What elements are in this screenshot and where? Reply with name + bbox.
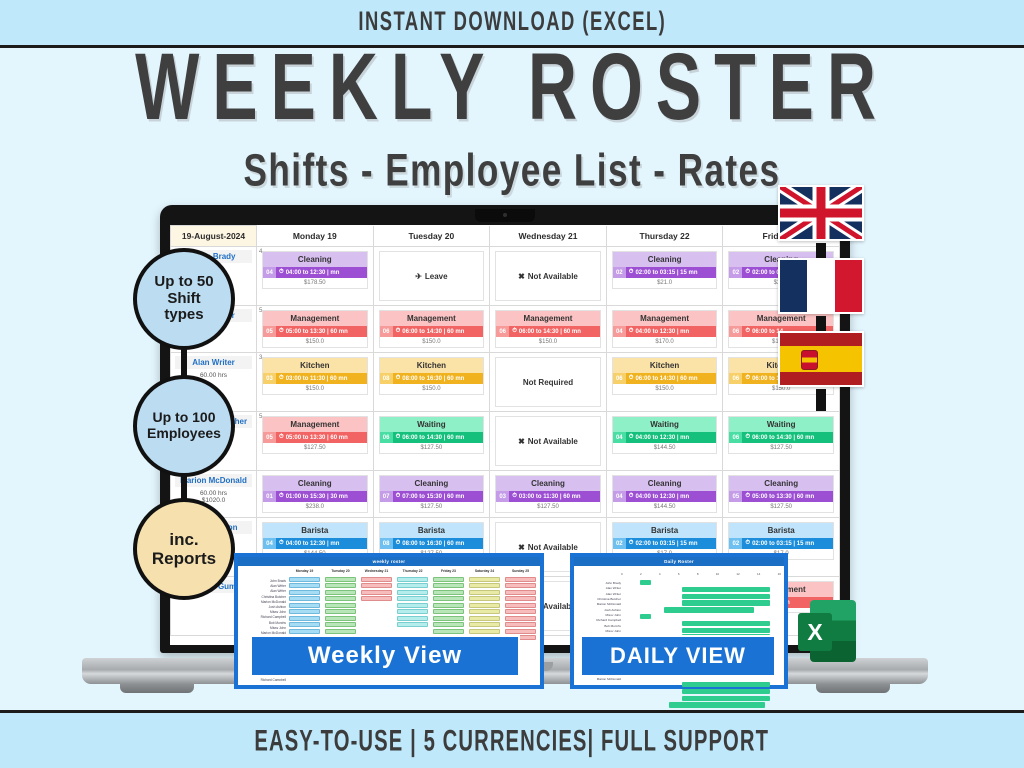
daily-window-title: Daily Roster [574, 557, 784, 566]
gantt-bar [682, 587, 770, 592]
shift-role: Barista [263, 523, 367, 538]
shift-card[interactable]: Kitchen08⏱08:00 to 16:30 | 60 mn$150.0 [379, 357, 485, 395]
gantt-bar [682, 621, 770, 626]
gantt-row [621, 587, 781, 594]
shift-number: 06 [496, 326, 509, 337]
shift-number: 02 [729, 538, 742, 549]
shift-number: 06 [729, 326, 742, 337]
shift-number: 05 [263, 326, 276, 337]
laptop-foot-right [816, 684, 890, 693]
flag-pole-3 [816, 389, 826, 411]
clock-icon: ⏱ [629, 375, 634, 382]
shift-amount: $150.0 [263, 384, 367, 394]
weekly-day-3: Thursday 22 [403, 569, 423, 573]
shift-amount: $150.0 [380, 337, 484, 347]
row-index: 3 [259, 355, 262, 361]
clock-icon: ⏱ [279, 269, 284, 276]
shift-time: ⏱04:00 to 12:30 | mn [626, 326, 717, 337]
shift-amount: $127.50 [380, 443, 484, 453]
shift-number: 01 [263, 491, 276, 502]
list-item: Bob Murphy [577, 623, 621, 628]
gantt-row [621, 600, 781, 607]
axis-tick: 16 [778, 572, 781, 576]
gantt-row [621, 689, 781, 696]
shift-role: Cleaning [613, 252, 717, 267]
shift-number: 06 [729, 373, 742, 384]
shift-cell[interactable]: Cleaning04⏱04:00 to 12:30 | mn$144.50 [606, 471, 723, 518]
shift-cell[interactable]: Cleaning01⏱01:00 to 15:30 | 30 mn$238.0 [257, 471, 374, 518]
gantt-bar [640, 580, 651, 585]
gantt-bar [682, 628, 770, 633]
shift-role: Cleaning [263, 252, 367, 267]
shift-role: Waiting [729, 417, 833, 432]
shift-number: 05 [729, 491, 742, 502]
date-header-cell: 19-August-2024 [171, 226, 257, 247]
axis-tick: 0 [621, 572, 623, 576]
list-item: Christina Butcher [577, 596, 621, 601]
gantt-row [621, 682, 781, 689]
axis-tick: 12 [736, 572, 739, 576]
shift-number: 06 [613, 373, 626, 384]
list-item: Bob Murphy [240, 620, 286, 624]
list-item: Alan Writer [577, 591, 621, 596]
list-item: John Brady [577, 580, 621, 585]
list-item: Christina Butcher [240, 594, 286, 598]
clock-icon: ⏱ [396, 434, 401, 441]
status-cell: Not Required [495, 357, 601, 407]
shift-amount: $170.0 [613, 337, 717, 347]
daily-view-label: DAILY VIEW [580, 635, 776, 677]
clock-icon: ⏱ [629, 540, 634, 547]
shift-amount: $21.0 [613, 278, 717, 288]
shift-card[interactable]: Cleaning05⏱05:00 to 13:30 | 60 mn$127.50 [728, 475, 834, 513]
bottom-banner-text: EASY-TO-USE | 5 CURRENCIES| FULL SUPPORT [255, 723, 770, 758]
gantt-bar [664, 607, 754, 612]
shift-number: 02 [613, 538, 626, 549]
list-item: John Brady [240, 578, 286, 582]
shift-cell[interactable]: 5Management05⏱05:00 to 13:30 | 60 mn$127… [257, 412, 374, 471]
shift-amount: $150.0 [496, 337, 600, 347]
shift-time: ⏱06:00 to 14:30 | 60 mn [509, 326, 600, 337]
shift-number: 03 [496, 491, 509, 502]
clock-icon: ⏱ [745, 434, 750, 441]
badge-3-line-1: inc. [169, 530, 198, 549]
shift-amount: $127.50 [729, 502, 833, 512]
shift-role: Barista [380, 523, 484, 538]
webcam-icon [475, 209, 535, 222]
shift-time: ⏱06:00 to 14:30 | 60 mn [742, 432, 833, 443]
table-row: Alan Writer60.00 hrs3Kitchen03⏱03:00 to … [171, 353, 840, 412]
badge-3-line-2: Reports [152, 549, 216, 568]
list-item: Marion McDonald [240, 599, 286, 603]
list-item: Marion McDonald [577, 601, 621, 606]
shift-number: 04 [263, 538, 276, 549]
shift-amount: $127.50 [496, 502, 600, 512]
row-index: 5 [259, 414, 262, 420]
shift-time: ⏱07:00 to 15:30 | 60 mn [393, 491, 484, 502]
shift-card[interactable]: Management06⏱06:00 to 14:30 | 60 mn$150.… [379, 310, 485, 348]
shift-card[interactable]: Kitchen03⏱03:00 to 11:30 | 60 mn$150.0 [262, 357, 368, 395]
shift-time: ⏱04:00 to 12:30 | mn [626, 432, 717, 443]
clock-icon: ⏱ [512, 328, 517, 335]
clock-icon: ⏱ [279, 434, 284, 441]
shift-amount: $144.50 [613, 443, 717, 453]
clock-icon: ⏱ [396, 493, 401, 500]
shift-card[interactable]: Kitchen06⏱06:00 to 14:30 | 60 mn$150.0 [612, 357, 718, 395]
shift-number: 07 [380, 491, 393, 502]
shift-card[interactable]: Waiting06⏱06:00 to 14:30 | 60 mn$127.50 [379, 416, 485, 454]
badge-1-line-1: Up to 50 [154, 274, 213, 291]
shift-card[interactable]: Cleaning01⏱01:00 to 15:30 | 30 mn$238.0 [262, 475, 368, 513]
clock-icon: ⏱ [279, 540, 284, 547]
axis-tick: 6 [678, 572, 680, 576]
shift-role: Management [613, 311, 717, 326]
list-item: Richard Campbell [240, 677, 286, 681]
shift-time: ⏱06:00 to 14:30 | 60 mn [393, 432, 484, 443]
bottom-banner: EASY-TO-USE | 5 CURRENCIES| FULL SUPPORT [0, 710, 1024, 768]
shift-time: ⏱02:00 to 03:15 | 15 mn [626, 538, 717, 549]
axis-tick: 10 [716, 572, 719, 576]
shift-card[interactable]: Management05⏱05:00 to 13:30 | 60 mn$127.… [262, 416, 368, 454]
shift-time: ⏱01:00 to 15:30 | 30 mn [276, 491, 367, 502]
shift-number: 08 [380, 373, 393, 384]
weekly-day-6: Sunday 25 [512, 569, 529, 573]
shift-card[interactable]: Cleaning02⏱02:00 to 03:15 | 15 mn$21.0 [612, 251, 718, 289]
clock-icon: ⏱ [629, 434, 634, 441]
shift-role: Management [263, 311, 367, 326]
shift-card[interactable]: Cleaning04⏱04:00 to 12:30 | mn$178.50 [262, 251, 368, 289]
weekly-day-2: Wednesday 21 [365, 569, 389, 573]
shift-time: ⏱08:00 to 16:30 | 60 mn [393, 373, 484, 384]
shift-cell[interactable]: Cleaning07⏱07:00 to 15:30 | 60 mn$127.50 [373, 471, 490, 518]
shift-role: Kitchen [613, 358, 717, 373]
list-item: Missy John [240, 609, 286, 613]
cross-icon: ✖ [518, 437, 525, 446]
table-row: Christina Butcher5Management05⏱05:00 to … [171, 412, 840, 471]
shift-role: Kitchen [380, 358, 484, 373]
shift-amount: $238.0 [263, 502, 367, 512]
shift-time: ⏱08:00 to 16:30 | 60 mn [393, 538, 484, 549]
clock-icon: ⏱ [745, 540, 750, 547]
clock-icon: ⏱ [279, 493, 284, 500]
clock-icon: ⏱ [279, 375, 284, 382]
shift-number: 04 [613, 326, 626, 337]
shift-card[interactable]: Waiting06⏱06:00 to 14:30 | 60 mn$127.50 [728, 416, 834, 454]
badge-2-line-2: Employees [147, 426, 221, 442]
weekly-day-5: Saturday 24 [475, 569, 494, 573]
status-label: Leave [425, 272, 448, 281]
badge-reports: inc. Reports [133, 498, 235, 600]
shift-cell[interactable]: Kitchen06⏱06:00 to 14:30 | 60 mn$150.0 [606, 353, 723, 412]
page-title: WEEKLY ROSTER [41, 42, 983, 132]
status-cell: ✈Leave [379, 251, 485, 301]
shift-amount: $127.50 [380, 502, 484, 512]
headline-block: WEEKLY ROSTER Shifts - Employee List - R… [0, 52, 1024, 192]
cross-icon: ✖ [518, 272, 525, 281]
excel-icon: X [798, 600, 856, 666]
list-item: Alan Writer [240, 583, 286, 587]
shift-amount: $150.0 [613, 384, 717, 394]
shift-time: ⏱02:00 to 03:15 | 15 mn [742, 538, 833, 549]
shift-number: 04 [263, 267, 276, 278]
clock-icon: ⏱ [629, 269, 634, 276]
badge-1-line-2: Shift [167, 291, 200, 308]
shift-card[interactable]: Management05⏱05:00 to 13:30 | 60 mn$150.… [262, 310, 368, 348]
list-item: Josh Ashton [577, 607, 621, 612]
axis-tick: 8 [697, 572, 699, 576]
list-item: Missy John [240, 625, 286, 629]
shift-role: Cleaning [613, 476, 717, 491]
gantt-bar [682, 600, 770, 605]
gantt-bar [682, 696, 770, 701]
status-label: Not Available [528, 272, 578, 281]
spain-flag-icon [778, 331, 864, 387]
axis-tick: 14 [757, 572, 760, 576]
clock-icon: ⏱ [396, 540, 401, 547]
poster-canvas: INSTANT DOWNLOAD (EXCEL) WEEKLY ROSTER S… [0, 0, 1024, 768]
shift-cell[interactable]: 3Kitchen03⏱03:00 to 11:30 | 60 mn$150.0 [257, 353, 374, 412]
table-row: Marion McDonald60.00 hrs$1020.0Cleaning0… [171, 471, 840, 518]
gantt-row [621, 580, 781, 587]
shift-role: Management [263, 417, 367, 432]
daily-axis-ticks: 0246810121416 [621, 572, 781, 576]
axis-tick: 4 [659, 572, 661, 576]
list-item: Marion McDonald [240, 630, 286, 634]
clock-icon: ⏱ [512, 493, 517, 500]
shift-cell[interactable]: Management06⏱06:00 to 14:30 | 60 mn$150.… [490, 306, 607, 353]
gantt-bar [640, 614, 651, 619]
shift-role: Cleaning [729, 476, 833, 491]
shift-role: Waiting [380, 417, 484, 432]
list-item: Alan Writer [240, 588, 286, 592]
shift-card[interactable]: Management06⏱06:00 to 14:30 | 60 mn$150.… [495, 310, 601, 348]
shift-amount: $150.0 [263, 337, 367, 347]
shift-number: 08 [380, 538, 393, 549]
france-flag-icon [778, 258, 864, 314]
shift-time: ⏱05:00 to 13:30 | 60 mn [276, 326, 367, 337]
shift-cell[interactable]: Waiting06⏱06:00 to 14:30 | 60 mn$127.50 [723, 412, 840, 471]
shift-cell[interactable]: Management06⏱06:00 to 14:30 | 60 mn$150.… [373, 306, 490, 353]
clock-icon: ⏱ [629, 328, 634, 335]
shift-amount: $144.50 [613, 502, 717, 512]
shift-cell[interactable]: 5Management05⏱05:00 to 13:30 | 60 mn$150… [257, 306, 374, 353]
shift-cell[interactable]: Cleaning02⏱02:00 to 03:15 | 15 mn$21.0 [606, 247, 723, 306]
shift-role: Cleaning [496, 476, 600, 491]
table-row: Alan Writer$920.05Management05⏱05:00 to … [171, 306, 840, 353]
shift-card[interactable]: Cleaning07⏱07:00 to 15:30 | 60 mn$127.50 [379, 475, 485, 513]
shift-time: ⏱03:00 to 11:30 | 60 mn [276, 373, 367, 384]
shift-cell[interactable]: ✖Not Available [490, 247, 607, 306]
shift-card[interactable]: Waiting04⏱04:00 to 12:30 | mn$144.50 [612, 416, 718, 454]
badge-shift-types: Up to 50 Shift types [133, 248, 235, 350]
gantt-row [621, 628, 781, 635]
shift-time: ⏱05:00 to 13:30 | 60 mn [742, 491, 833, 502]
gantt-bar [669, 702, 765, 707]
shift-number: 06 [380, 326, 393, 337]
list-item: Missy John [577, 628, 621, 633]
weekly-day-1: Tuesday 20 [331, 569, 349, 573]
weekly-window-title: weekly roster [238, 557, 540, 566]
shift-role: Kitchen [263, 358, 367, 373]
shift-role: Barista [729, 523, 833, 538]
shift-time: ⏱04:00 to 12:30 | mn [276, 267, 367, 278]
gantt-bar [682, 689, 770, 694]
shift-role: Barista [613, 523, 717, 538]
clock-icon: ⏱ [396, 375, 401, 382]
clock-icon: ⏱ [629, 493, 634, 500]
list-item: Richard Campbell [577, 617, 621, 622]
weekly-view-label: Weekly View [250, 635, 520, 677]
shift-number: 06 [380, 432, 393, 443]
shift-cell[interactable]: ✈Leave [373, 247, 490, 306]
clock-icon: ⏱ [745, 375, 750, 382]
day-header-wednesday: Wednesday 21 [490, 226, 607, 247]
shift-time: ⏱02:00 to 03:15 | 15 mn [626, 267, 717, 278]
shift-amount: $178.50 [263, 278, 367, 288]
status-cell: ✖Not Available [495, 416, 601, 466]
list-item: Alan Writer [577, 585, 621, 590]
gantt-row [621, 702, 781, 709]
shift-cell[interactable]: Waiting04⏱04:00 to 12:30 | mn$144.50 [606, 412, 723, 471]
day-header-thursday: Thursday 22 [606, 226, 723, 247]
shift-time: ⏱03:00 to 11:30 | 60 mn [509, 491, 600, 502]
day-header-tuesday: Tuesday 20 [373, 226, 490, 247]
spain-crest-icon [801, 350, 818, 370]
clock-icon: ⏱ [745, 269, 750, 276]
cross-icon: ✖ [518, 543, 525, 552]
axis-tick: 2 [640, 572, 642, 576]
row-index: 5 [259, 308, 262, 314]
united-kingdom-flag-icon [778, 185, 864, 241]
shift-role: Management [496, 311, 600, 326]
weekly-day-4: Friday 23 [441, 569, 456, 573]
shift-amount: $127.50 [263, 443, 367, 453]
shift-cell[interactable]: Kitchen08⏱08:00 to 16:30 | 60 mn$150.0 [373, 353, 490, 412]
status-label: Not Required [523, 378, 573, 387]
shift-role: Waiting [613, 417, 717, 432]
gantt-row [621, 607, 781, 614]
badge-1-line-3: types [164, 307, 203, 324]
shift-cell[interactable]: ✖Not Available [490, 412, 607, 471]
gantt-bar [682, 682, 770, 687]
clock-icon: ⏱ [745, 328, 750, 335]
list-item: Richard Campbell [240, 614, 286, 618]
list-item: Josh Ashton [240, 604, 286, 608]
weekly-day-0: Monday 19 [296, 569, 314, 573]
clock-icon: ⏱ [745, 493, 750, 500]
shift-cell[interactable]: Management04⏱04:00 to 12:30 | mn$170.0 [606, 306, 723, 353]
list-item: Missy John [577, 612, 621, 617]
shift-role: Cleaning [263, 476, 367, 491]
gantt-bar [682, 594, 770, 599]
shift-time: ⏱06:00 to 14:30 | 60 mn [393, 326, 484, 337]
shift-card[interactable]: Cleaning03⏱03:00 to 11:30 | 60 mn$127.50 [495, 475, 601, 513]
day-header-monday: Monday 19 [257, 226, 374, 247]
clock-icon: ⏱ [396, 328, 401, 335]
shift-card[interactable]: Cleaning04⏱04:00 to 12:30 | mn$144.50 [612, 475, 718, 513]
status-cell: ✖Not Available [495, 251, 601, 301]
shift-number: 03 [263, 373, 276, 384]
status-label: Not Available [528, 437, 578, 446]
shift-time: ⏱06:00 to 14:30 | 60 mn [626, 373, 717, 384]
gantt-row [621, 696, 781, 703]
excel-icon-letter: X [798, 613, 832, 651]
shift-number: 06 [729, 432, 742, 443]
shift-number: 02 [729, 267, 742, 278]
shift-cell[interactable]: Waiting06⏱06:00 to 14:30 | 60 mn$127.50 [373, 412, 490, 471]
laptop-foot-left [120, 684, 194, 693]
shift-cell[interactable]: Not Required [490, 353, 607, 412]
badge-2-line-1: Up to 100 [152, 410, 215, 426]
leave-icon: ✈ [415, 272, 422, 281]
shift-role: Management [380, 311, 484, 326]
gantt-row [621, 594, 781, 601]
shift-number: 04 [613, 491, 626, 502]
shift-cell[interactable]: Cleaning03⏱03:00 to 11:30 | 60 mn$127.50 [490, 471, 607, 518]
status-label: Not Available [528, 543, 578, 552]
shift-time: ⏱04:00 to 12:30 | mn [276, 538, 367, 549]
shift-card[interactable]: Management04⏱04:00 to 12:30 | mn$170.0 [612, 310, 718, 348]
shift-cell[interactable]: 4Cleaning04⏱04:00 to 12:30 | mn$178.50 [257, 247, 374, 306]
shift-time: ⏱05:00 to 13:30 | 60 mn [276, 432, 367, 443]
shift-cell[interactable]: Cleaning05⏱05:00 to 13:30 | 60 mn$127.50 [723, 471, 840, 518]
table-row: John Brady4Cleaning04⏱04:00 to 12:30 | m… [171, 247, 840, 306]
row-index: 4 [259, 249, 262, 255]
gantt-row [621, 614, 781, 621]
shift-amount: $127.50 [729, 443, 833, 453]
shift-number: 05 [263, 432, 276, 443]
shift-role: Cleaning [380, 476, 484, 491]
spreadsheet-header-row: 19-August-2024 Monday 19 Tuesday 20 Wedn… [171, 226, 840, 247]
shift-time: ⏱04:00 to 12:30 | mn [626, 491, 717, 502]
badge-employees: Up to 100 Employees [133, 375, 235, 477]
shift-number: 02 [613, 267, 626, 278]
shift-number: 04 [613, 432, 626, 443]
gantt-row [621, 621, 781, 628]
clock-icon: ⏱ [279, 328, 284, 335]
shift-amount: $150.0 [380, 384, 484, 394]
